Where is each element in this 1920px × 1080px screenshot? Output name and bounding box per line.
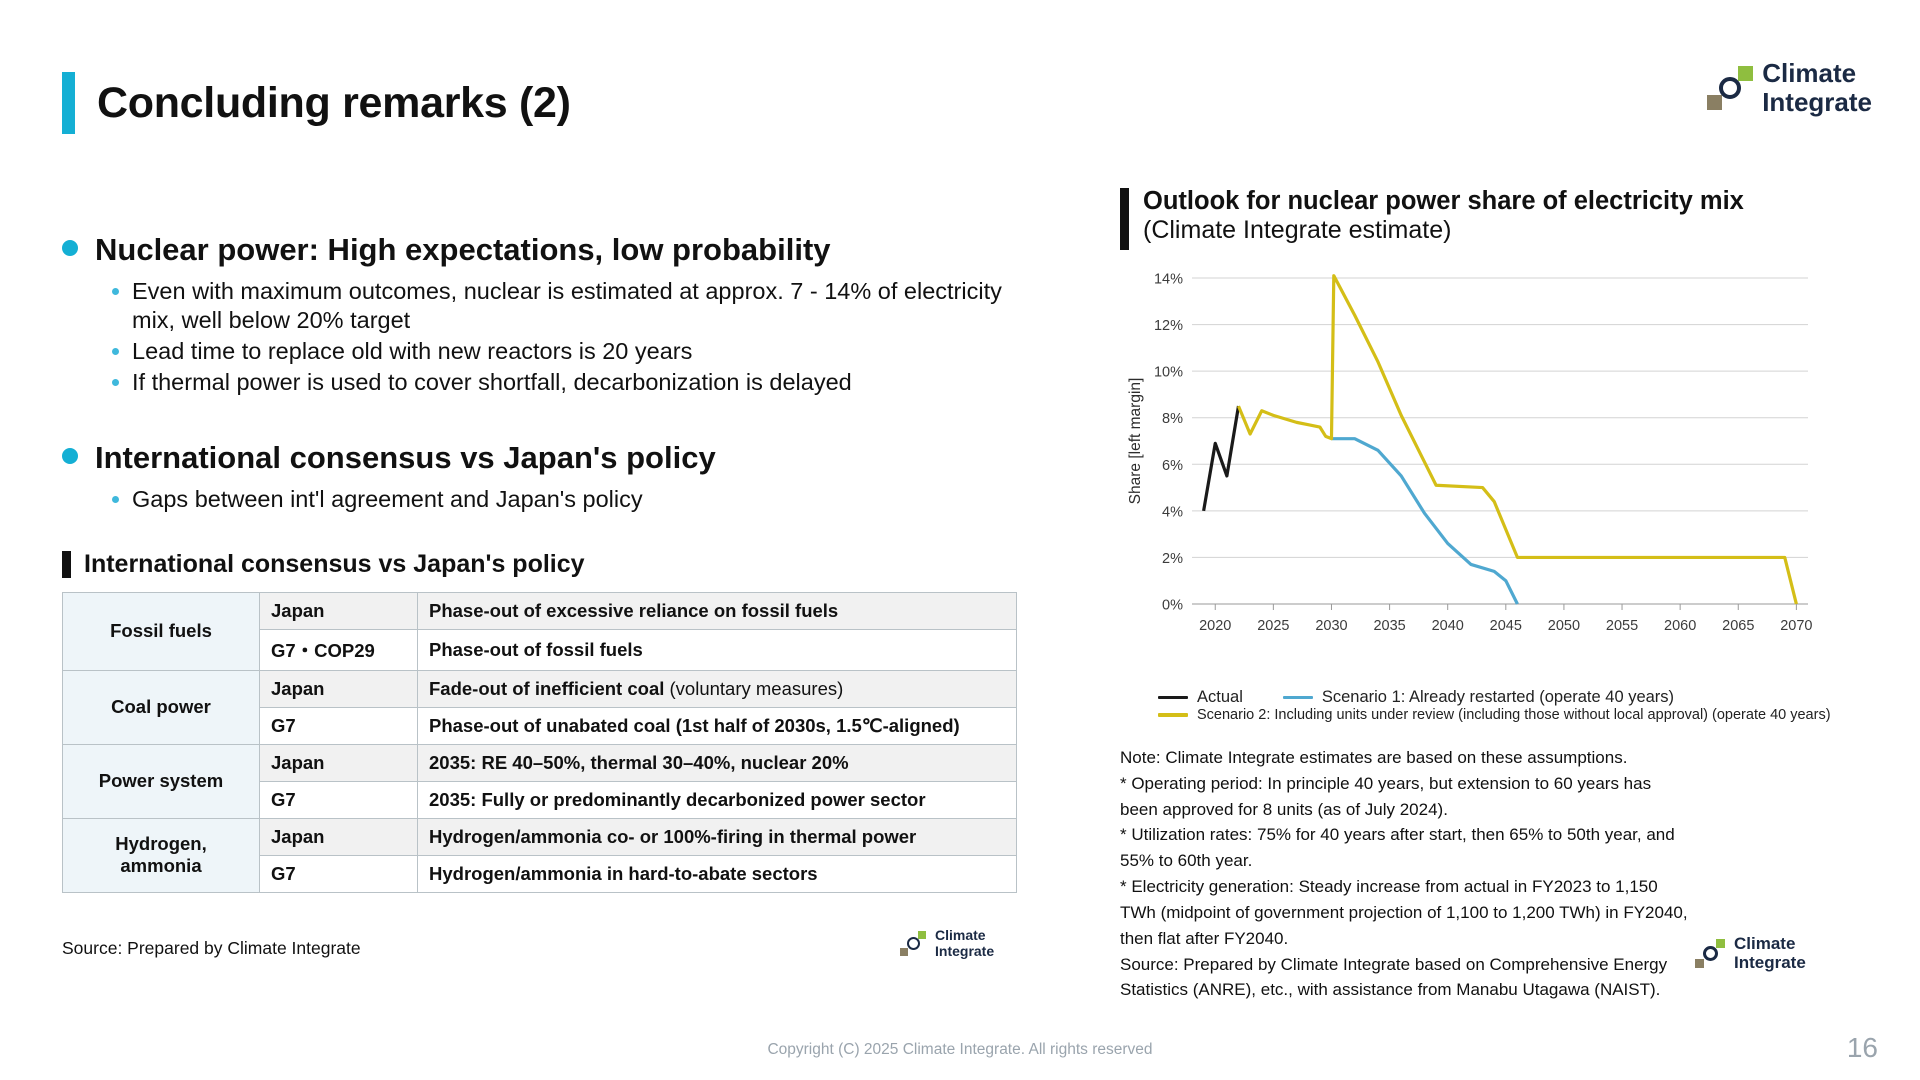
sub-bullet-dot-icon — [112, 348, 119, 355]
legend-row-secondary: Scenario 2: Including units under review… — [1158, 707, 1880, 723]
y-axis-tick-label: 2% — [1162, 551, 1183, 567]
x-axis-tick-label: 2025 — [1257, 618, 1289, 634]
section-international-consensus: International consensus vs Japan's polic… — [62, 440, 1042, 514]
table-cell-description: Fade-out of inefficient coal (voluntary … — [418, 670, 1017, 707]
list-item: If thermal power is used to cover shortf… — [112, 368, 1042, 397]
table-cell-party: G7・COP29 — [260, 629, 418, 670]
nuclear-share-chart: 0%2%4%6%8%10%12%14%Share [left margin]20… — [1120, 264, 1820, 684]
desc-bold: 2035: Fully or predominantly decarbonize… — [429, 789, 926, 810]
x-axis-tick-label: 2070 — [1780, 618, 1812, 634]
table-cell-description: 2035: Fully or predominantly decarbonize… — [418, 781, 1017, 818]
note-line: been approved for 8 units (as of July 20… — [1120, 797, 1820, 823]
chart-accent-bar — [1120, 188, 1129, 250]
logo-line-2: Integrate — [935, 944, 994, 958]
logo-line-2: Integrate — [1734, 954, 1806, 971]
desc-bold: Hydrogen/ammonia in hard-to-abate sector… — [429, 863, 818, 884]
legend-label-scenario-1: Scenario 1: Already restarted (operate 4… — [1322, 688, 1674, 707]
x-axis-tick-label: 2035 — [1373, 618, 1405, 634]
x-axis-tick-label: 2065 — [1722, 618, 1754, 634]
desc-bold: Phase-out of excessive reliance on fossi… — [429, 600, 838, 621]
desc-bold: Hydrogen/ammonia co- or 100%-firing in t… — [429, 826, 916, 847]
chart-series-line — [1204, 406, 1239, 511]
desc-bold: Phase-out of unabated coal (1st half of … — [429, 715, 960, 736]
policy-comparison-table: Fossil fuels Japan Phase-out of excessiv… — [62, 592, 1017, 893]
section-nuclear-power: Nuclear power: High expectations, low pr… — [62, 232, 1042, 398]
bullet-dot-icon — [62, 448, 78, 464]
title-accent-bar — [62, 72, 75, 134]
logo-line-1: Climate — [935, 928, 994, 942]
note-line: Note: Climate Integrate estimates are ba… — [1120, 745, 1820, 771]
y-axis-tick-label: 4% — [1162, 504, 1183, 520]
bullet-dot-icon — [62, 240, 78, 256]
chart-title: Outlook for nuclear power share of elect… — [1143, 186, 1744, 216]
table-cell-party: G7 — [260, 707, 418, 744]
y-axis-tick-label: 14% — [1154, 272, 1183, 288]
table-cell-description: Hydrogen/ammonia co- or 100%-firing in t… — [418, 818, 1017, 855]
table-cell-description: Hydrogen/ammonia in hard-to-abate sector… — [418, 855, 1017, 892]
list-item-text: If thermal power is used to cover shortf… — [132, 368, 852, 397]
logo-line-2: Integrate — [1762, 89, 1872, 115]
table-cell-description: Phase-out of unabated coal (1st half of … — [418, 707, 1017, 744]
list-item: Gaps between int'l agreement and Japan's… — [112, 485, 1042, 514]
sub-bullet-dot-icon — [112, 288, 119, 295]
table-cell-party: Japan — [260, 744, 418, 781]
logo-mark-icon — [1707, 66, 1753, 110]
table-row: Fossil fuels Japan Phase-out of excessiv… — [63, 592, 1017, 629]
x-axis-tick-label: 2040 — [1432, 618, 1464, 634]
logo-wordmark: Climate Integrate — [1762, 60, 1872, 115]
section-heading-row: Nuclear power: High expectations, low pr… — [62, 232, 1042, 268]
x-axis-tick-label: 2030 — [1315, 618, 1347, 634]
list-item-text: Even with maximum outcomes, nuclear is e… — [132, 277, 1042, 335]
logo-mark-icon — [900, 931, 926, 956]
note-line: 55% to 60th year. — [1120, 848, 1820, 874]
table-cell-description: Phase-out of excessive reliance on fossi… — [418, 592, 1017, 629]
note-line: * Utilization rates: 75% for 40 years af… — [1120, 822, 1820, 848]
legend-swatch-scenario-2 — [1158, 713, 1188, 717]
section-heading-row: International consensus vs Japan's polic… — [62, 440, 1042, 476]
section-bullet-list: Even with maximum outcomes, nuclear is e… — [62, 277, 1042, 398]
left-source-note: Source: Prepared by Climate Integrate — [62, 938, 361, 959]
chart-svg: 0%2%4%6%8%10%12%14%Share [left margin]20… — [1120, 264, 1820, 684]
chart-legend: Actual Scenario 1: Already restarted (op… — [1158, 688, 1880, 723]
list-item: Even with maximum outcomes, nuclear is e… — [112, 277, 1042, 335]
y-axis-title: Share [left margin] — [1127, 378, 1144, 505]
y-axis-tick-label: 10% — [1154, 365, 1183, 381]
table-cell-category: Power system — [63, 744, 260, 818]
table-cell-party: Japan — [260, 592, 418, 629]
x-axis-tick-label: 2060 — [1664, 618, 1696, 634]
table-cell-description: Phase-out of fossil fuels — [418, 629, 1017, 670]
chart-subtitle: (Climate Integrate estimate) — [1143, 216, 1744, 245]
table-row: Power system Japan 2035: RE 40–50%, ther… — [63, 744, 1017, 781]
legend-swatch-actual — [1158, 696, 1188, 700]
table-cell-category: Fossil fuels — [63, 592, 260, 670]
x-axis-tick-label: 2045 — [1490, 618, 1522, 634]
legend-label-actual: Actual — [1197, 688, 1243, 707]
page-number: 16 — [1847, 1032, 1878, 1064]
right-content-column: Outlook for nuclear power share of elect… — [1120, 186, 1880, 1003]
logo-line-1: Climate — [1734, 935, 1806, 952]
table-cell-party: G7 — [260, 781, 418, 818]
logo-line-1: Climate — [1762, 60, 1872, 86]
climate-integrate-logo: Climate Integrate — [1707, 60, 1872, 115]
table-cell-description: 2035: RE 40–50%, thermal 30–40%, nuclear… — [418, 744, 1017, 781]
legend-row-primary: Actual Scenario 1: Already restarted (op… — [1158, 688, 1880, 707]
list-item-text: Gaps between int'l agreement and Japan's… — [132, 485, 643, 514]
y-axis-tick-label: 8% — [1162, 411, 1183, 427]
logo-mark-icon — [1695, 939, 1725, 968]
copyright-notice: Copyright (C) 2025 Climate Integrate. Al… — [0, 1041, 1920, 1059]
table-cell-party: Japan — [260, 670, 418, 707]
sub-bullet-dot-icon — [112, 496, 119, 503]
section-bullet-list: Gaps between int'l agreement and Japan's… — [62, 485, 1042, 514]
y-axis-tick-label: 12% — [1154, 318, 1183, 334]
sub-bullet-dot-icon — [112, 379, 119, 386]
y-axis-tick-label: 0% — [1162, 598, 1183, 614]
note-line: Statistics (ANRE), etc., with assistance… — [1120, 977, 1820, 1003]
section-heading: Nuclear power: High expectations, low pr… — [95, 232, 831, 268]
x-axis-tick-label: 2050 — [1548, 618, 1580, 634]
page-title: Concluding remarks (2) — [97, 79, 571, 128]
chart-heading-row: Outlook for nuclear power share of elect… — [1120, 186, 1880, 250]
logo-wordmark: Climate Integrate — [935, 928, 994, 958]
chart-heading-text: Outlook for nuclear power share of elect… — [1143, 186, 1744, 250]
table-row: Hydrogen, ammonia Japan Hydrogen/ammonia… — [63, 818, 1017, 855]
table-cell-party: Japan — [260, 818, 418, 855]
legend-swatch-scenario-1 — [1283, 696, 1313, 700]
section-heading: International consensus vs Japan's polic… — [95, 440, 716, 476]
note-line: * Operating period: In principle 40 year… — [1120, 771, 1820, 797]
x-axis-tick-label: 2020 — [1199, 618, 1231, 634]
legend-label-scenario-2: Scenario 2: Including units under review… — [1197, 707, 1831, 723]
x-axis-tick-label: 2055 — [1606, 618, 1638, 634]
note-line: TWh (midpoint of government projection o… — [1120, 900, 1820, 926]
climate-integrate-logo-left: Climate Integrate — [900, 928, 994, 958]
desc-regular: (voluntary measures) — [664, 678, 843, 699]
list-item-text: Lead time to replace old with new reacto… — [132, 337, 692, 366]
climate-integrate-logo-right: Climate Integrate — [1695, 935, 1806, 971]
desc-bold: 2035: RE 40–50%, thermal 30–40%, nuclear… — [429, 752, 849, 773]
desc-bold: Phase-out of fossil fuels — [429, 639, 643, 660]
list-item: Lead time to replace old with new reacto… — [112, 337, 1042, 366]
table-body: Fossil fuels Japan Phase-out of excessiv… — [63, 592, 1017, 892]
heading-accent-bar — [62, 551, 71, 578]
table-cell-category: Hydrogen, ammonia — [63, 818, 260, 892]
note-line: * Electricity generation: Steady increas… — [1120, 874, 1820, 900]
table-row: Coal power Japan Fade-out of inefficient… — [63, 670, 1017, 707]
table-cell-party: G7 — [260, 855, 418, 892]
table-cell-category: Coal power — [63, 670, 260, 744]
y-axis-tick-label: 6% — [1162, 458, 1183, 474]
table-heading: International consensus vs Japan's polic… — [84, 550, 585, 579]
table-heading-row: International consensus vs Japan's polic… — [62, 550, 1042, 579]
slide-title: Concluding remarks (2) — [62, 72, 571, 134]
desc-bold: Fade-out of inefficient coal — [429, 678, 664, 699]
logo-wordmark: Climate Integrate — [1734, 935, 1806, 971]
left-content-column: Nuclear power: High expectations, low pr… — [62, 232, 1042, 893]
